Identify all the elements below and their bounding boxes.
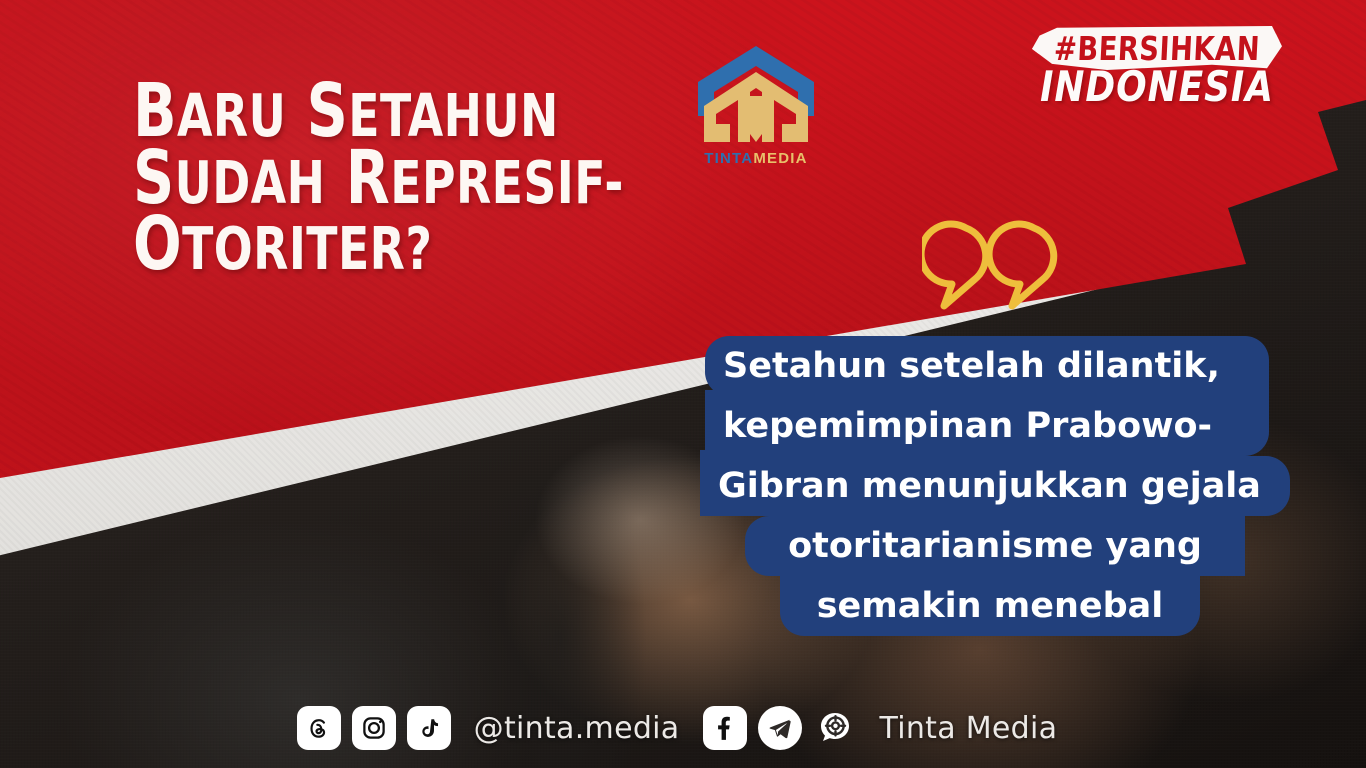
page-title: BARU SETAHUN SUDAH REPRESIF- OTORITER? [133,78,649,278]
logo-word-tinta: TINTA [704,150,753,167]
telegram-icon[interactable] [758,706,802,750]
facebook-icon[interactable] [703,706,747,750]
quote-line-5: semakin menebal [780,576,1200,636]
poster-canvas: BARU SETAHUN SUDAH REPRESIF- OTORITER? T… [0,0,1366,768]
headline-line-3: OTORITER? [133,211,649,278]
quote-line-1: Setahun setelah dilantik, [705,336,1269,396]
tiktok-icon[interactable] [407,706,451,750]
quote-line-2: kepemimpinan Prabowo- [705,396,1269,456]
logo-wordmark: TINTAMEDIA [686,150,826,167]
signal-icon[interactable] [813,706,857,750]
headline-l1-rest-aru: ARU [177,81,286,150]
headline-l3-rest-toriter: TORITER? [182,214,432,283]
badge-country: INDONESIA [1034,62,1279,111]
social-handle: @tinta.media [474,711,680,746]
quote-line-4: otoritarianisme yang [745,516,1245,576]
headline-l2-rest-epresif: EPRESIF- [390,148,624,217]
quote-line-3: Gibran menunjukkan gejala [700,456,1290,516]
instagram-icon[interactable] [352,706,396,750]
social-page-name: Tinta Media [880,711,1058,746]
logo-mark-icon [686,38,826,148]
tinta-media-logo: TINTAMEDIA [686,38,826,178]
headline-l3-cap-o: O [133,201,182,287]
logo-word-media: MEDIA [753,150,807,167]
headline-line-1: BARU SETAHUN [133,78,649,145]
headline-line-2: SUDAH REPRESIF- [133,145,649,212]
headline-l2-cap-r: R [346,135,391,221]
bersihkan-indonesia-badge: #BERSIHKAN INDONESIA [1022,14,1290,118]
headline-l2-rest-udah: UDAH [175,148,326,217]
quote-open-double-icon [922,218,1062,318]
social-bar: @tinta.media [0,697,1366,759]
threads-icon[interactable] [297,706,341,750]
